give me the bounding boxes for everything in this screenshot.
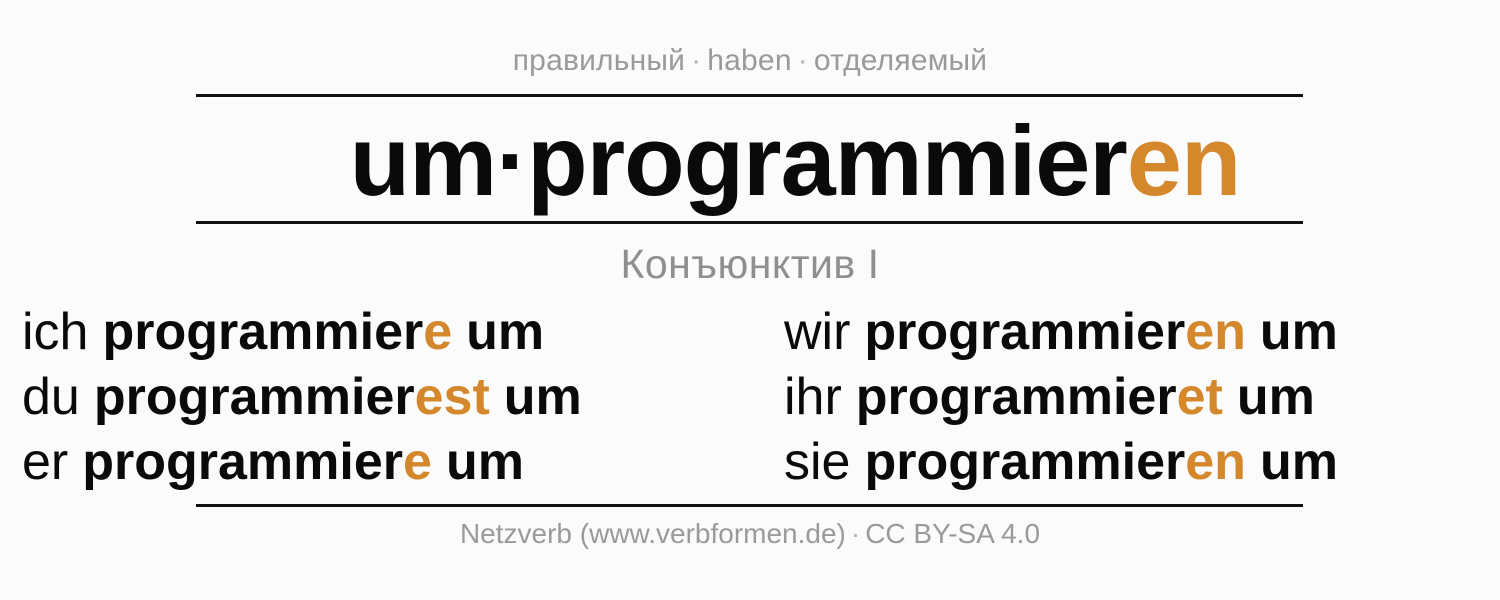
divider-bottom: [196, 504, 1303, 507]
conjugation-row: ichprogrammiereum: [22, 300, 772, 365]
headword-stem: programmier: [527, 105, 1127, 216]
conjugation-row: wirprogrammierenum: [784, 300, 1500, 365]
verb-stem: programmier: [856, 365, 1177, 430]
conjugation-row: ihrprogrammieretum: [784, 365, 1500, 430]
meta-separator-1: ·: [685, 44, 707, 77]
page-title: um·programmieren: [350, 111, 1241, 210]
meta-auxiliary: haben: [707, 44, 791, 77]
pronoun: sie: [784, 430, 850, 495]
footer-license: CC BY-SA 4.0: [865, 518, 1040, 549]
verb-stem: programmier: [864, 300, 1185, 365]
meta-separator-2: ·: [792, 44, 814, 77]
footer-separator: ·: [846, 518, 865, 549]
conjugation-row: erprogrammiereum: [22, 430, 772, 495]
footer-source: Netzverb (www.verbformen.de): [460, 518, 846, 549]
verb-stem: programmier: [102, 300, 423, 365]
conjugation-row: duprogrammierestum: [22, 365, 772, 430]
separable-particle: um: [466, 300, 544, 365]
verb-meta-line: правильный·haben·отделяемый: [0, 44, 1500, 78]
headword-row: um·programmieren: [0, 104, 1500, 216]
verb-suffix: en: [1185, 430, 1246, 495]
pronoun: ihr: [784, 365, 842, 430]
divider-middle: [196, 221, 1303, 224]
divider-top: [196, 94, 1303, 97]
separable-particle: um: [446, 430, 524, 495]
conjugation-column-singular: ichprogrammiereum duprogrammierestum erp…: [22, 300, 772, 495]
meta-separability: отделяемый: [814, 44, 987, 77]
conjugation-column-plural: wirprogrammierenum ihrprogrammieretum si…: [784, 300, 1500, 495]
tense-label: Конъюнктив I: [0, 241, 1500, 288]
german-flag-icon: [260, 128, 328, 196]
verb-suffix: e: [403, 430, 432, 495]
pronoun: wir: [784, 300, 850, 365]
footer-attribution: Netzverb (www.verbformen.de)·CC BY-SA 4.…: [0, 518, 1500, 550]
separable-particle: um: [1237, 365, 1315, 430]
pronoun: du: [22, 365, 80, 430]
headword-separator: ·: [496, 105, 527, 216]
verb-suffix: en: [1185, 300, 1246, 365]
headword-prefix: um: [350, 105, 497, 216]
verb-stem: programmier: [864, 430, 1185, 495]
verb-stem: programmier: [94, 365, 415, 430]
separable-particle: um: [1260, 300, 1338, 365]
verb-stem: programmier: [82, 430, 403, 495]
separable-particle: um: [1260, 430, 1338, 495]
verb-conjugation-card: правильный·haben·отделяемый um·programmi…: [0, 0, 1500, 600]
verb-suffix: et: [1177, 365, 1223, 430]
pronoun: er: [22, 430, 68, 495]
verb-suffix: est: [415, 365, 490, 430]
separable-particle: um: [504, 365, 582, 430]
conjugation-table: ichprogrammiereum duprogrammierestum erp…: [0, 300, 1500, 500]
pronoun: ich: [22, 300, 88, 365]
meta-regularity: правильный: [513, 44, 685, 77]
headword-ending: en: [1127, 105, 1241, 216]
verb-suffix: e: [423, 300, 452, 365]
conjugation-row: sieprogrammierenum: [784, 430, 1500, 495]
